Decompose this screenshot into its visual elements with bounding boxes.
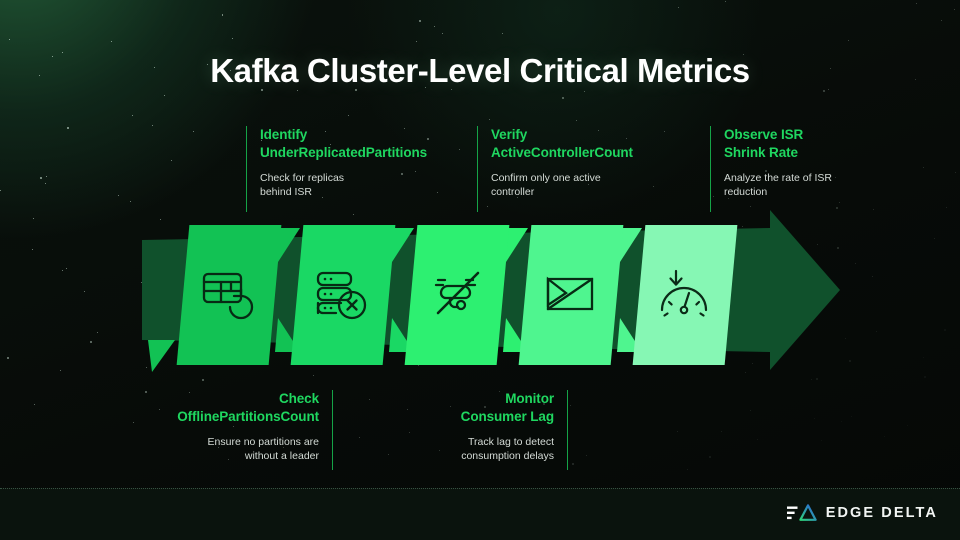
server-stack-error-icon (297, 225, 389, 365)
callout-heading-line-2: Shrink Rate (724, 144, 925, 162)
callout-body: Check for replicas behind ISR (260, 171, 461, 199)
callout-body: Confirm only one active controller (491, 171, 692, 199)
callout-step-5: Observe ISR Shrink Rate Analyze the rate… (710, 126, 925, 212)
callout-body: Ensure no partitions are without a leade… (118, 435, 319, 463)
callout-body-line-2: reduction (724, 185, 925, 199)
callout-body-line-1: Check for replicas (260, 171, 461, 185)
edge-delta-logo-icon (787, 502, 817, 524)
callout-body-line-1: Confirm only one active (491, 171, 692, 185)
envelope-lag-icon (525, 225, 617, 365)
step-panel-2[interactable] (291, 225, 396, 365)
step-panel-4[interactable] (519, 225, 624, 365)
callout-heading-line-2: UnderReplicatedPartitions (260, 144, 461, 162)
callout-heading-line-2: Consumer Lag (353, 408, 554, 426)
step-panel-3[interactable] (405, 225, 510, 365)
gauge-down-arrow-icon (639, 225, 731, 365)
callout-body-line-2: controller (491, 185, 692, 199)
callout-step-1: Identify UnderReplicatedPartitions Check… (246, 126, 461, 212)
slide-canvas: Kafka Cluster-Level Critical Metrics Ide… (0, 0, 960, 540)
callout-heading: Verify ActiveControllerCount (491, 126, 692, 162)
callout-heading-line-2: OfflinePartitionsCount (118, 408, 319, 426)
callout-body-line-2: consumption delays (353, 449, 554, 463)
callout-heading-line-1: Monitor (353, 390, 554, 408)
page-title: Kafka Cluster-Level Critical Metrics (0, 52, 960, 90)
callout-body: Track lag to detect consumption delays (353, 435, 554, 463)
callout-body-line-1: Analyze the rate of ISR (724, 171, 925, 185)
callout-heading: Check OfflinePartitionsCount (118, 390, 319, 426)
callout-heading: Identify UnderReplicatedPartitions (260, 126, 461, 162)
callout-heading-line-1: Observe ISR (724, 126, 925, 144)
callout-heading-line-1: Identify (260, 126, 461, 144)
callout-step-3: Verify ActiveControllerCount Confirm onl… (477, 126, 692, 212)
callout-body: Analyze the rate of ISR reduction (724, 171, 925, 199)
callout-body-line-1: Ensure no partitions are (118, 435, 319, 449)
callout-body-line-2: behind ISR (260, 185, 461, 199)
callout-heading-line-2: ActiveControllerCount (491, 144, 692, 162)
controller-disabled-slash-icon (411, 225, 503, 365)
callout-step-4: Monitor Consumer Lag Track lag to detect… (353, 390, 568, 470)
callout-step-2: Check OfflinePartitionsCount Ensure no p… (118, 390, 333, 470)
callout-heading-line-1: Verify (491, 126, 692, 144)
step-panel-1[interactable] (177, 225, 282, 365)
table-refresh-icon (183, 225, 275, 365)
callout-body-line-1: Track lag to detect (353, 435, 554, 449)
step-panel-5[interactable] (633, 225, 738, 365)
footer-bar: EDGE DELTA (0, 488, 960, 540)
callout-body-line-2: without a leader (118, 449, 319, 463)
brand-wordmark: EDGE DELTA (826, 505, 938, 521)
callout-heading: Monitor Consumer Lag (353, 390, 554, 426)
callout-heading: Observe ISR Shrink Rate (724, 126, 925, 162)
callout-heading-line-1: Check (118, 390, 319, 408)
brand-logo: EDGE DELTA (787, 502, 938, 524)
